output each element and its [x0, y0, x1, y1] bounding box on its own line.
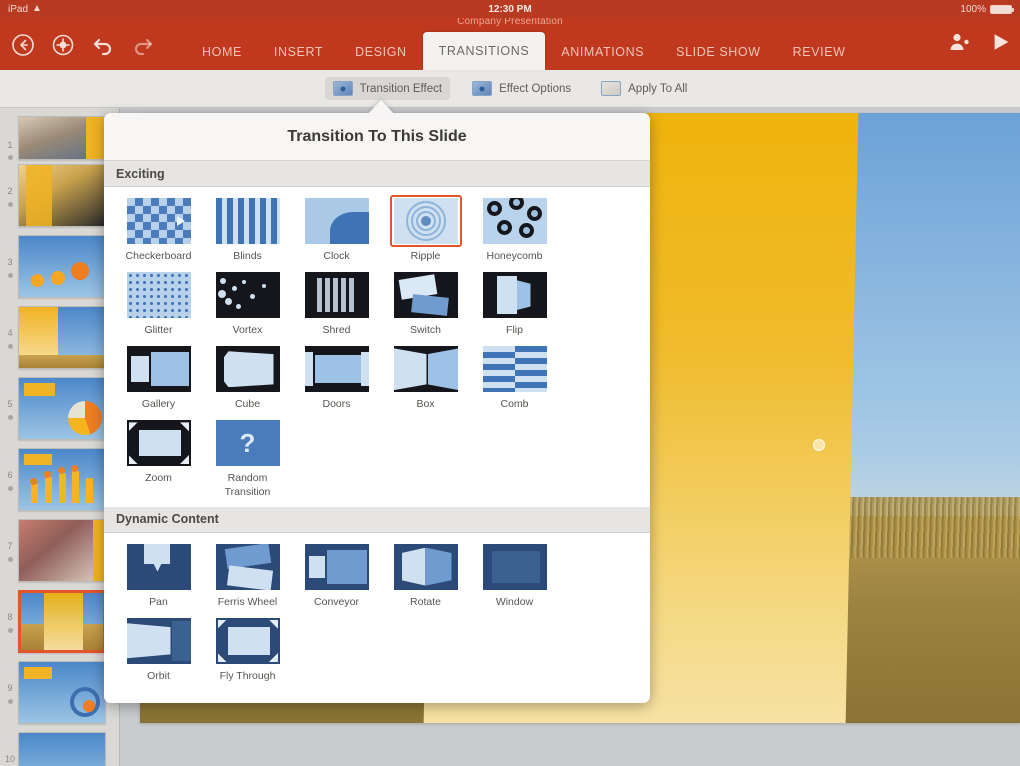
slide-number-3: 3	[7, 257, 12, 267]
transition-item-blinds[interactable]: Blinds	[203, 195, 292, 263]
transition-item-orbit[interactable]: Orbit	[114, 615, 203, 683]
selected-transition-highlight	[390, 195, 462, 247]
transition-label: Doors	[293, 398, 381, 411]
transition-label: Fly Through	[204, 670, 292, 683]
transition-label: Pan	[115, 596, 203, 609]
slide-thumbnail-panel[interactable]: 1 2 3 4 5 6	[0, 108, 120, 766]
section-header-exciting: Exciting	[104, 161, 650, 187]
tab-transitions[interactable]: TRANSITIONS	[423, 32, 546, 70]
slide-number-4: 4	[7, 328, 12, 338]
transition-label: Cube	[204, 398, 292, 411]
slide-thumb-5[interactable]: 5	[0, 373, 119, 444]
back-icon[interactable]	[6, 30, 40, 60]
gallery-icon	[127, 346, 191, 392]
ripple-icon	[394, 198, 458, 244]
slide-number-2: 2	[7, 186, 12, 196]
transition-label: Zoom	[115, 472, 203, 485]
transition-label: Window	[471, 596, 559, 609]
box-icon	[394, 346, 458, 392]
slide-thumbnail-image	[18, 306, 106, 369]
slide-thumb-1[interactable]: 1	[0, 108, 119, 160]
transition-item-box[interactable]: Box	[381, 343, 470, 411]
file-icon[interactable]	[46, 30, 80, 60]
transition-item-window[interactable]: Window	[470, 541, 559, 609]
transition-label: Box	[382, 398, 470, 411]
slide-thumb-10[interactable]: 10	[0, 728, 119, 766]
transition-item-random-transition[interactable]: ? Random Transition	[203, 417, 292, 498]
checkerboard-icon	[127, 198, 191, 244]
transition-label: Checkerboard	[115, 250, 203, 263]
slide-number-1: 1	[7, 140, 12, 150]
clock-label: 12:30 PM	[0, 4, 1020, 15]
transition-label: Orbit	[115, 670, 203, 683]
transition-item-ripple[interactable]: Ripple	[381, 195, 470, 263]
transition-item-fly-through[interactable]: Fly Through	[203, 615, 292, 683]
transition-item-flip[interactable]: Flip	[470, 269, 559, 337]
switch-icon	[394, 272, 458, 318]
transition-item-glitter[interactable]: Glitter	[114, 269, 203, 337]
transition-label: Vortex	[204, 324, 292, 337]
transition-label: Switch	[382, 324, 470, 337]
slide-number-9: 9	[7, 683, 12, 693]
transition-label: Rotate	[382, 596, 470, 609]
slide-number-7: 7	[7, 541, 12, 551]
honeycomb-icon	[483, 198, 547, 244]
transitions-toolbar: Transition Effect Effect Options Apply T…	[0, 70, 1020, 108]
transition-item-rotate[interactable]: Rotate	[381, 541, 470, 609]
transition-item-gallery[interactable]: Gallery	[114, 343, 203, 411]
slide-thumbnail-image	[18, 590, 106, 653]
glitter-icon	[127, 272, 191, 318]
transition-label: Shred	[293, 324, 381, 337]
transition-item-clock[interactable]: Clock	[292, 195, 381, 263]
tab-review[interactable]: REVIEW	[777, 34, 862, 70]
transition-item-checkerboard[interactable]: Checkerboard	[114, 195, 203, 263]
redo-icon[interactable]	[126, 30, 160, 60]
blinds-icon	[216, 198, 280, 244]
shred-icon	[305, 272, 369, 318]
transition-item-shred[interactable]: Shred	[292, 269, 381, 337]
effect-options-button[interactable]: Effect Options	[472, 81, 571, 96]
tab-design[interactable]: DESIGN	[339, 34, 423, 70]
slide-thumbnail-image	[18, 732, 106, 766]
tab-home[interactable]: HOME	[186, 34, 258, 70]
transition-label: Glitter	[115, 324, 203, 337]
transition-gallery-popover[interactable]: Transition To This Slide Exciting Checke…	[104, 113, 650, 703]
slide-thumbnail-image	[18, 116, 106, 160]
slide-number-6: 6	[7, 470, 12, 480]
slide-thumb-8[interactable]: 8	[0, 586, 119, 657]
apply-to-all-icon	[601, 81, 621, 96]
vortex-icon	[216, 272, 280, 318]
slide-thumb-4[interactable]: 4	[0, 302, 119, 373]
ribbon-right-icons	[948, 30, 1012, 59]
transition-label: Flip	[471, 324, 559, 337]
transition-grid-exciting: Checkerboard Blinds Clock Ripple	[104, 187, 650, 507]
rotate-icon	[394, 544, 458, 590]
transition-label: Clock	[293, 250, 381, 263]
transition-label: Comb	[471, 398, 559, 411]
slide-thumb-2[interactable]: 2	[0, 160, 119, 231]
slide-number-10: 10	[5, 754, 15, 764]
transition-label: Ferris Wheel	[204, 596, 292, 609]
slide-thumb-9[interactable]: 9	[0, 657, 119, 728]
transition-label: Random Transition	[204, 472, 292, 498]
transition-label: Honeycomb	[471, 250, 559, 263]
slide-thumbnail-image	[18, 377, 106, 440]
section-header-dynamic-content: Dynamic Content	[104, 507, 650, 533]
conveyor-icon	[305, 544, 369, 590]
transition-grid-dynamic-content: Pan Ferris Wheel Conveyor Rotate	[104, 533, 650, 691]
apply-to-all-button[interactable]: Apply To All	[601, 81, 687, 96]
transition-item-comb[interactable]: Comb	[470, 343, 559, 411]
effect-options-icon	[472, 81, 492, 96]
slide-thumb-7[interactable]: 7	[0, 515, 119, 586]
transition-label: Gallery	[115, 398, 203, 411]
battery-percent-label: 100%	[960, 4, 986, 15]
transition-item-pan[interactable]: Pan	[114, 541, 203, 609]
transition-effect-icon	[333, 81, 353, 96]
slide-thumbnail-image	[18, 519, 106, 582]
transition-label: Ripple	[382, 250, 470, 263]
fly-through-icon	[216, 618, 280, 664]
slide-number-5: 5	[7, 399, 12, 409]
transition-item-conveyor[interactable]: Conveyor	[292, 541, 381, 609]
popover-title: Transition To This Slide	[104, 113, 650, 161]
tab-animations[interactable]: ANIMATIONS	[545, 34, 660, 70]
transition-label: Conveyor	[293, 596, 381, 609]
transition-item-cube[interactable]: Cube	[203, 343, 292, 411]
slide-thumbnail-image	[18, 448, 106, 511]
popover-arrow	[368, 100, 394, 114]
tab-insert[interactable]: INSERT	[258, 34, 339, 70]
play-slideshow-icon[interactable]	[990, 31, 1012, 58]
transition-item-switch[interactable]: Switch	[381, 269, 470, 337]
undo-icon[interactable]	[86, 30, 120, 60]
ribbon-nav-icons	[6, 30, 160, 60]
comb-icon	[483, 346, 547, 392]
clock-icon	[305, 198, 369, 244]
flip-icon	[483, 272, 547, 318]
ribbon-tabs: HOME INSERT DESIGN TRANSITIONS ANIMATION…	[186, 18, 862, 70]
transition-item-doors[interactable]: Doors	[292, 343, 381, 411]
pan-icon	[127, 544, 191, 590]
share-person-icon[interactable]	[948, 30, 972, 59]
slide-number-8: 8	[7, 612, 12, 622]
status-bar: iPad ▲ 12:30 PM 100%	[0, 0, 1020, 18]
slide-thumb-6[interactable]: 6	[0, 444, 119, 515]
orbit-icon	[127, 618, 191, 664]
slide-thumbnail-image	[18, 661, 106, 724]
transition-label: Blinds	[204, 250, 292, 263]
zoom-icon	[127, 420, 191, 466]
slide-thumb-3[interactable]: 3	[0, 231, 119, 302]
apply-to-all-label: Apply To All	[628, 83, 687, 95]
slide-thumbnail-image	[18, 235, 106, 298]
random-transition-icon: ?	[216, 420, 280, 466]
effect-options-label: Effect Options	[499, 83, 571, 95]
tab-slide-show[interactable]: SLIDE SHOW	[660, 34, 777, 70]
transition-item-honeycomb[interactable]: Honeycomb	[470, 195, 559, 263]
cube-icon	[216, 346, 280, 392]
doors-icon	[305, 346, 369, 392]
transition-effect-button[interactable]: Transition Effect	[325, 77, 450, 100]
ferris-wheel-icon	[216, 544, 280, 590]
slide-thumbnail-image	[18, 164, 106, 227]
transition-item-ferris-wheel[interactable]: Ferris Wheel	[203, 541, 292, 609]
transition-item-zoom[interactable]: Zoom	[114, 417, 203, 498]
window-icon	[483, 544, 547, 590]
battery-icon	[990, 5, 1012, 14]
transition-item-vortex[interactable]: Vortex	[203, 269, 292, 337]
transition-effect-label: Transition Effect	[360, 83, 442, 95]
ribbon-bar: Company Presentation HOME INSERT DESIGN …	[0, 18, 1020, 70]
